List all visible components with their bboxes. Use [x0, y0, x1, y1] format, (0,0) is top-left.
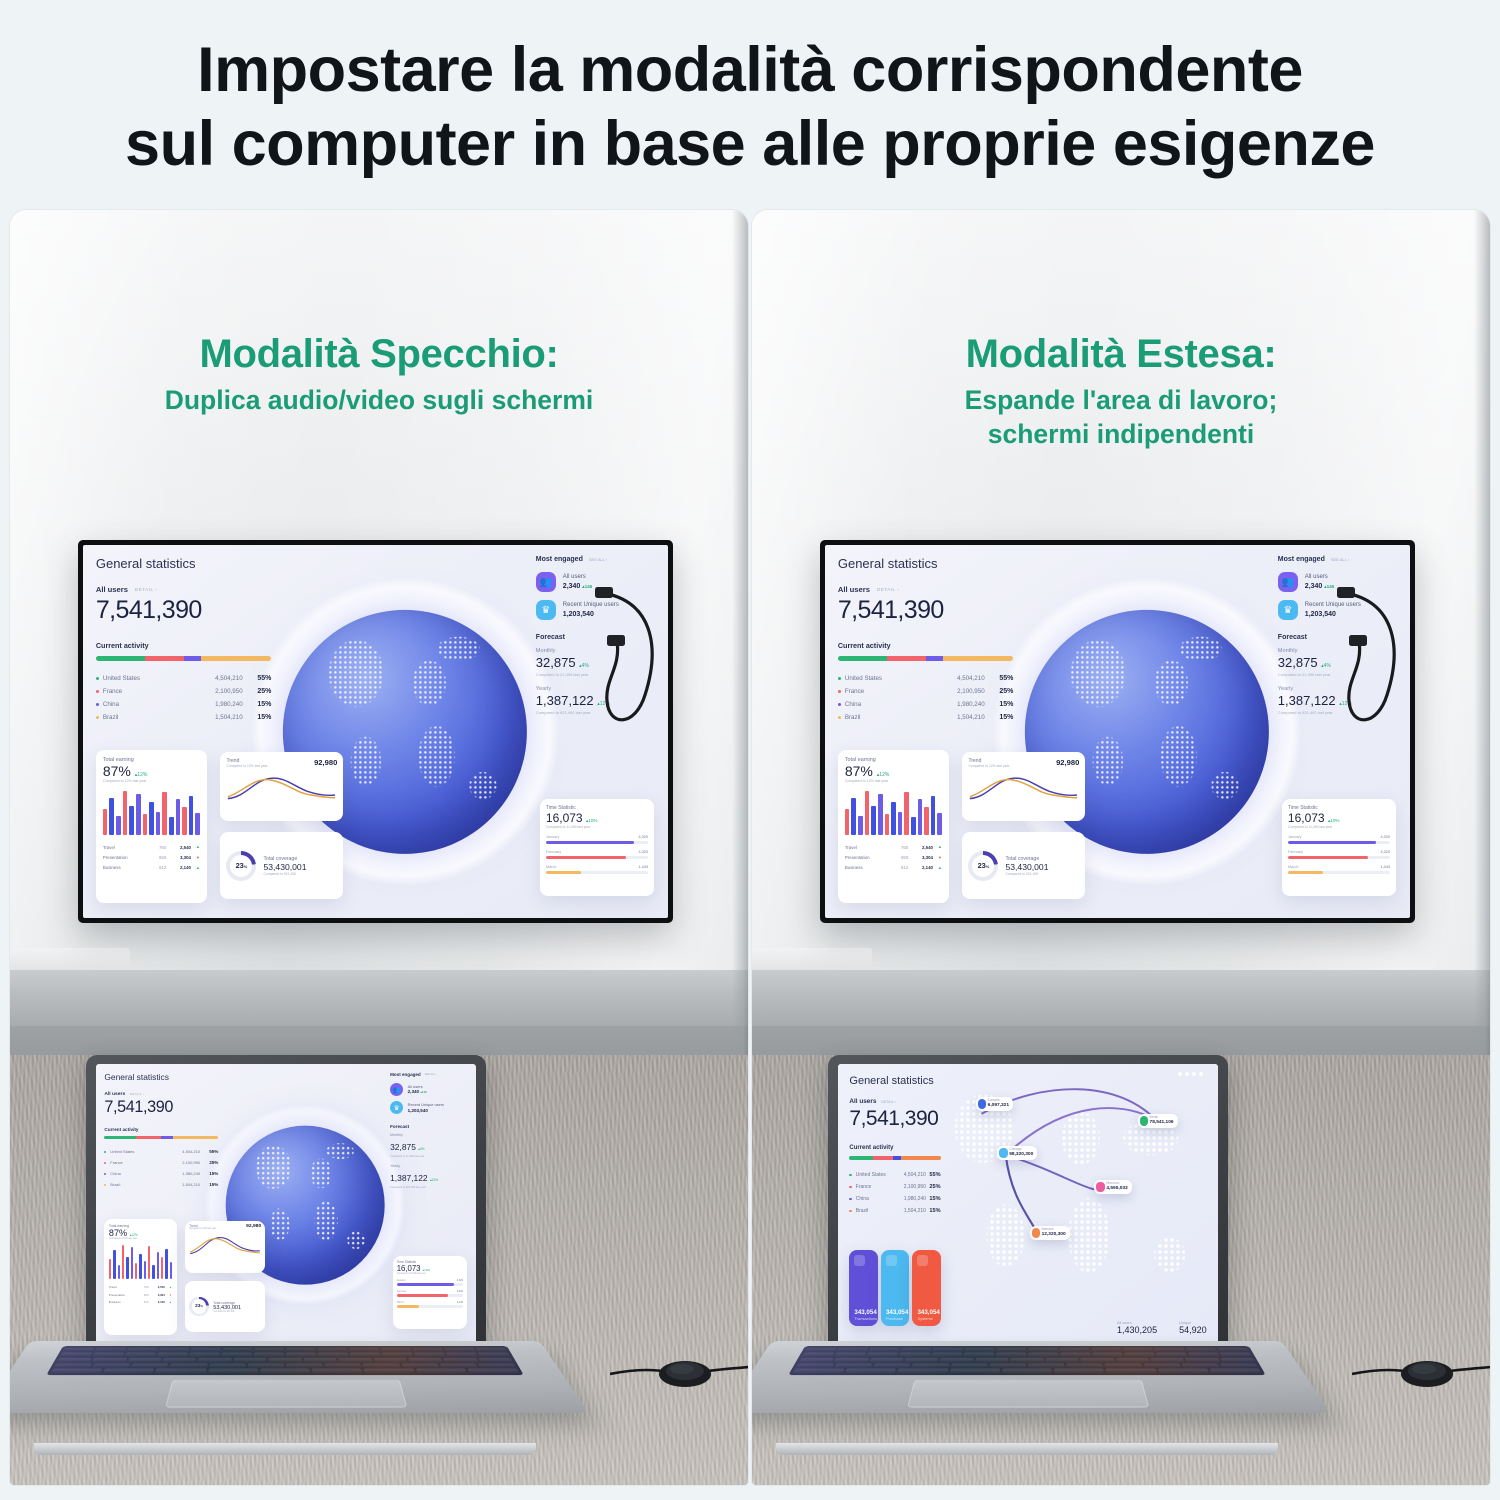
keyboard-key[interactable] [1156, 1353, 1188, 1357]
detail-link[interactable]: DETAIL › [130, 1092, 145, 1096]
trend-value: 92,980 [314, 758, 337, 767]
table-row: Presentation6503,304▾ [103, 853, 200, 863]
keyboard-key[interactable] [364, 1369, 415, 1373]
keyboard-key[interactable] [198, 1358, 232, 1362]
map-pin[interactable]: Morocco4,595,033 [1094, 1180, 1131, 1194]
earning-name: Presentation [845, 853, 892, 863]
keyboard-key[interactable] [127, 1358, 161, 1362]
keyboard-key[interactable] [209, 1363, 246, 1367]
detail-link[interactable]: DETAIL › [881, 1100, 895, 1104]
see-all-link[interactable]: SEE ALL › [425, 1073, 437, 1076]
country-name: France [96, 685, 186, 698]
keyboard-key[interactable] [1218, 1348, 1250, 1352]
map-pin-value: 12,320,300 [1042, 1232, 1066, 1238]
month-label: January [1288, 835, 1302, 839]
keyboard-key[interactable] [268, 1358, 301, 1362]
keyboard-key[interactable] [373, 1358, 407, 1362]
keyboard-key[interactable] [318, 1348, 348, 1352]
earning-b: 2,140 [909, 863, 934, 873]
keyboard-key[interactable] [1115, 1358, 1149, 1362]
earning-a: 612 [150, 863, 168, 873]
dashboard-map-laptop-right: General statisticsAll usersDETAIL ›7,541… [838, 1064, 1218, 1346]
earning-a: 650 [138, 1291, 150, 1298]
keyboard-key[interactable] [338, 1358, 372, 1362]
activity-segment [145, 656, 184, 661]
stat-card[interactable]: 343,054Purchase [881, 1250, 909, 1326]
keyboard-key[interactable] [286, 1353, 316, 1357]
monthly-value: 32,875 ▴4% [1278, 655, 1331, 670]
keyboard-key[interactable] [312, 1369, 363, 1373]
keyboard-key[interactable] [303, 1358, 336, 1362]
country-value: 2,100,950 [186, 685, 242, 698]
keyboard-key[interactable] [126, 1348, 157, 1352]
keyboard-key[interactable] [349, 1348, 380, 1352]
all-users-value: 7,541,390 [104, 1098, 218, 1117]
keyboard-key[interactable] [1220, 1363, 1259, 1367]
keyboard-key[interactable] [103, 1369, 155, 1373]
keyboard-key[interactable] [837, 1348, 868, 1352]
keyboard-key[interactable] [247, 1363, 284, 1367]
keyboard-key[interactable] [1060, 1348, 1090, 1352]
activity-segment [943, 656, 1013, 661]
country-name: China [96, 698, 186, 711]
keyboard-key[interactable] [221, 1353, 252, 1357]
yearly-note: Compared to 921,490 last year [390, 1186, 470, 1189]
keyboard-key[interactable] [363, 1363, 400, 1367]
stat-card[interactable]: 343,054Systems [912, 1250, 940, 1326]
country-pct: 55% [985, 672, 1014, 685]
keyboard-key[interactable] [799, 1358, 834, 1362]
engaged-value: 2,340 ▴145 [1305, 582, 1334, 591]
trend-value: 92,980 [1056, 758, 1079, 767]
forecast-label: Forecast [536, 634, 659, 641]
map-pin-value: 78,541,106 [1150, 1120, 1174, 1126]
keyboard-key[interactable] [155, 1369, 206, 1373]
engaged-value: 2,340 ▴145 [563, 582, 592, 591]
time-statistic-note: Compared to 11,490 last year [546, 825, 648, 829]
current-activity-label: Current activity [104, 1127, 218, 1132]
stat-card-label: Systems [917, 1316, 935, 1321]
country-name: Brazil [104, 1179, 164, 1190]
most-engaged-label: Most engaged [536, 556, 583, 563]
country-value: 2,100,950 [897, 1181, 926, 1193]
keyboard-key[interactable] [222, 1348, 252, 1352]
keyboard-key[interactable] [444, 1348, 475, 1352]
keyboard-key[interactable] [414, 1353, 446, 1357]
month-value: 4,320 [457, 1279, 463, 1282]
keyboard-key[interactable] [792, 1369, 844, 1373]
keyboard-key[interactable] [92, 1358, 127, 1362]
keyboard-key[interactable] [1080, 1358, 1114, 1362]
forecast-label: Forecast [1278, 634, 1401, 641]
keyboard-key[interactable] [408, 1358, 442, 1362]
engaged-item[interactable]: 👥All users2,340 ▴145 [1278, 572, 1401, 592]
keyboard-key[interactable] [795, 1363, 834, 1367]
keyboard-key[interactable] [95, 1348, 126, 1352]
dashboard-globe-tv-right: General statisticsAll usersDETAIL ›7,541… [825, 545, 1410, 918]
activity-segment [173, 1136, 219, 1139]
keyboard-key[interactable] [1188, 1353, 1220, 1357]
yearly-value: 1,387,122 ▴12% [390, 1173, 438, 1183]
mini-bar [865, 791, 870, 836]
keyboard-key[interactable] [189, 1353, 220, 1357]
keyboard-key[interactable] [1181, 1363, 1219, 1367]
map-pin[interactable]: Manaus12,320,300 [1030, 1226, 1070, 1240]
keyboard-key[interactable] [897, 1369, 948, 1373]
keyboard-row [60, 1353, 511, 1357]
keyboard-key[interactable] [1185, 1358, 1220, 1362]
keyboard-key[interactable] [845, 1369, 897, 1373]
coverage-value: 53,430,001 [263, 862, 306, 872]
forecast-monthly: Monthly32,875 ▴4%Compared to 21,490 last… [390, 1133, 470, 1158]
engaged-value: 2,340 ▴145 [408, 1089, 427, 1095]
table-row: Business6122,140▴ [845, 863, 942, 873]
time-statistic-row: January4,320 [397, 1279, 463, 1286]
keyboard-key[interactable] [478, 1363, 517, 1367]
earning-name: Business [109, 1298, 138, 1305]
earning-name: Presentation [103, 853, 150, 863]
mini-bar [113, 1250, 115, 1279]
country-pct: 15% [926, 1193, 941, 1205]
coverage-pct-unit: % [986, 864, 990, 869]
month-label: March [546, 865, 557, 869]
keyboard-key[interactable] [996, 1353, 1026, 1357]
keyboard-key[interactable] [63, 1348, 95, 1352]
month-bar-track [546, 871, 648, 874]
earning-name: Business [845, 863, 892, 873]
see-all-link[interactable]: SEE ALL › [589, 557, 607, 562]
engaged-name: Recent Unique users [563, 601, 619, 609]
keyboard-key[interactable] [124, 1353, 156, 1357]
laptop-keyboard[interactable] [788, 1346, 1266, 1375]
mini-bar [148, 1246, 150, 1279]
country-name: France [849, 1181, 897, 1193]
country-table: United States4,504,21055%France2,100,950… [849, 1169, 940, 1217]
coverage-value: 53,430,001 [1005, 862, 1048, 872]
keyboard-key[interactable] [975, 1358, 1008, 1362]
keyboard-key[interactable] [318, 1353, 349, 1357]
keyboard-key[interactable] [1092, 1353, 1123, 1357]
keyboard-key[interactable] [207, 1369, 258, 1373]
keyboard-key[interactable] [1045, 1358, 1078, 1362]
keyboard-key[interactable] [1106, 1369, 1157, 1373]
keyboard-key[interactable] [350, 1353, 381, 1357]
mini-bar [165, 1249, 167, 1279]
activity-bar [96, 656, 272, 661]
dashboard-globe-laptop-left: General statisticsAll usersDETAIL ›7,541… [96, 1064, 476, 1346]
country-pct: 55% [243, 672, 272, 685]
time-statistic-row: January4,320 [546, 835, 648, 844]
keyboard-key[interactable] [1143, 1363, 1181, 1367]
stat-card-value: 343,054 [854, 1309, 872, 1316]
keyboard-key[interactable] [439, 1363, 477, 1367]
all-users-label: All users [838, 585, 870, 594]
keyboard-key[interactable] [286, 1348, 316, 1352]
keyboard-key[interactable] [286, 1363, 323, 1367]
keyboard-key[interactable] [904, 1358, 938, 1362]
laptop-computer: General statisticsAll usersDETAIL ›7,541… [772, 1055, 1282, 1485]
keyboard-key[interactable] [446, 1353, 478, 1357]
keyboard-key[interactable] [899, 1353, 930, 1357]
mini-bar [170, 1262, 172, 1279]
time-statistic-row: February4,320 [546, 850, 648, 859]
monthly-label: Monthly [390, 1133, 470, 1137]
keyboard-key[interactable] [60, 1353, 92, 1357]
keyboard-key[interactable] [964, 1348, 994, 1352]
country-value: 2,100,950 [928, 685, 984, 698]
keyboard-row [805, 1348, 1250, 1352]
keyboard-key[interactable] [157, 1353, 188, 1357]
trend-note: Compared to 12% last year [189, 1228, 216, 1230]
keyboard-key[interactable] [996, 1348, 1026, 1352]
mini-bar [885, 814, 890, 835]
engaged-item[interactable]: ♛Recent Unique users1,203,540 [1278, 600, 1401, 620]
mini-bar [871, 806, 876, 835]
keyboard-key[interactable] [1124, 1353, 1155, 1357]
stat-card[interactable]: 343,054Transactions [849, 1250, 877, 1326]
keyboard-key[interactable] [1158, 1369, 1210, 1373]
trend-note: Compared to 12% last year [968, 764, 1009, 768]
keyboard-key[interactable] [158, 1348, 189, 1352]
month-value: 1,443 [457, 1301, 463, 1304]
keyboard-key[interactable] [162, 1358, 196, 1362]
month-bar-track [397, 1294, 463, 1297]
keyboard-key[interactable] [1028, 1363, 1065, 1367]
map-footer-totals: All users1,430,205Unique54,920 [1117, 1321, 1207, 1335]
total-coverage-card: 23%Total coverage53,430,001Compared to 9… [962, 832, 1085, 899]
keyboard-key[interactable] [233, 1358, 266, 1362]
keyboard-key[interactable] [932, 1348, 963, 1352]
keyboard-key[interactable] [834, 1363, 872, 1367]
keyboard-key[interactable] [50, 1369, 102, 1373]
month-bar-track [397, 1283, 463, 1286]
table-row: United States4,504,21055% [838, 672, 1014, 685]
dashboard-title: General statistics [104, 1072, 218, 1082]
keyboard-key[interactable] [260, 1369, 310, 1373]
month-value: 4,320 [1380, 850, 1390, 854]
mini-bar [118, 1265, 120, 1279]
earning-a: 650 [150, 853, 168, 863]
time-statistic-value: 16,073 ▴10% [1288, 811, 1390, 825]
map-pin[interactable]: Chicago98,320,300 [997, 1146, 1037, 1160]
keyboard-key[interactable] [963, 1353, 994, 1357]
mini-bar [851, 798, 856, 836]
earning-b: 2,540 [167, 842, 192, 852]
map-pin-value: 4,595,033 [1106, 1186, 1127, 1192]
keyboard-key[interactable] [381, 1348, 412, 1352]
country-name: Brazil [96, 711, 186, 724]
keyboard-key[interactable] [382, 1353, 413, 1357]
keyboard-key[interactable] [1010, 1358, 1043, 1362]
keyboard-key[interactable] [873, 1363, 911, 1367]
keyboard-key[interactable] [1054, 1369, 1105, 1373]
keyboard-key[interactable] [1123, 1348, 1154, 1352]
keyboard-key[interactable] [190, 1348, 221, 1352]
keyboard-key[interactable] [869, 1358, 903, 1362]
keyboard-key[interactable] [170, 1363, 207, 1367]
see-all-link[interactable]: SEE ALL › [1331, 557, 1349, 562]
mini-bar [135, 1263, 137, 1279]
laptop-trackpad[interactable] [165, 1380, 407, 1408]
keyboard-key[interactable] [866, 1353, 898, 1357]
earning-trend-icon: ▾ [192, 853, 200, 863]
keyboard-key[interactable] [1150, 1358, 1184, 1362]
keyboard-key[interactable] [324, 1363, 361, 1367]
total-earning-note: Compared to 12% last year [109, 1238, 172, 1240]
keyboard-key[interactable] [478, 1353, 510, 1357]
table-row: Travel7602,540▴ [845, 842, 942, 852]
month-bar-fill [1288, 871, 1323, 874]
keyboard-key[interactable] [401, 1363, 439, 1367]
keyboard-key[interactable] [931, 1353, 962, 1357]
keyboard-key[interactable] [834, 1353, 866, 1357]
keyboard-row [53, 1363, 516, 1367]
keyboard-row [799, 1358, 1256, 1362]
keyboard-key[interactable] [802, 1353, 834, 1357]
keyboard-key[interactable] [951, 1363, 988, 1367]
month-label: January [397, 1279, 406, 1282]
keyboard-key[interactable] [868, 1348, 899, 1352]
month-bar-track [546, 841, 648, 844]
keyboard-key[interactable] [940, 1358, 974, 1362]
country-pct: 25% [200, 1157, 218, 1168]
month-bar-track [546, 856, 648, 859]
country-value: 1,504,210 [928, 711, 984, 724]
total-earning-value: 87% ▴12% [845, 763, 942, 779]
keyboard-key[interactable] [53, 1363, 92, 1367]
country-value: 2,100,950 [164, 1157, 200, 1168]
time-statistic-delta: ▴10% [1328, 818, 1340, 823]
mini-bar [126, 1257, 128, 1279]
earning-b: 3,304 [167, 853, 192, 863]
keyboard-key[interactable] [476, 1348, 508, 1352]
keyboard-key[interactable] [900, 1348, 931, 1352]
country-pct: 15% [926, 1205, 941, 1217]
earning-a: 650 [892, 853, 910, 863]
keyboard-key[interactable] [92, 1363, 130, 1367]
country-table: United States4,504,21055%France2,100,950… [838, 672, 1014, 724]
map-pin[interactable]: Berlin78,541,106 [1138, 1114, 1178, 1128]
country-pct: 15% [243, 711, 272, 724]
keyboard-key[interactable] [416, 1369, 468, 1373]
total-earning-card: Total earning87% ▴12%Compared to 12% las… [838, 750, 949, 903]
country-name: United States [849, 1169, 897, 1181]
television-display: General statisticsAll usersDETAIL ›7,541… [78, 540, 673, 923]
keyboard-key[interactable] [1220, 1358, 1255, 1362]
keyboard-key[interactable] [131, 1363, 169, 1367]
detail-link[interactable]: DETAIL › [877, 587, 899, 592]
earning-b: 2,540 [150, 1284, 166, 1291]
yearly-note: Compared to 921,490 last year [1278, 710, 1401, 715]
country-name: China [104, 1168, 164, 1179]
keyboard-key[interactable] [254, 1353, 284, 1357]
coverage-note: Compared to 921,490 [213, 1311, 241, 1313]
keyboard-key[interactable] [1220, 1353, 1252, 1357]
detail-link[interactable]: DETAIL › [135, 587, 157, 592]
mini-bar [144, 1261, 146, 1279]
mini-bar [129, 806, 134, 835]
keyboard-key[interactable] [92, 1353, 124, 1357]
keyboard-key[interactable] [1186, 1348, 1217, 1352]
stats-right-column: Most engagedSEE ALL ›👥All users2,340 ▴14… [390, 1072, 470, 1188]
month-label: February [397, 1290, 407, 1293]
keyboard-key[interactable] [1105, 1363, 1142, 1367]
mirror-mode-subtitle-1: Duplica audio/video sugli schermi [10, 384, 748, 418]
keyboard-key[interactable] [468, 1369, 520, 1373]
activity-segment [887, 656, 926, 661]
table-row: Travel7602,540▴ [109, 1284, 172, 1291]
keyboard-key[interactable] [1002, 1369, 1052, 1373]
keyboard-key[interactable] [989, 1363, 1026, 1367]
engaged-item[interactable]: ♛Recent Unique users1,203,540 [390, 1101, 470, 1114]
month-bar-fill [397, 1305, 420, 1308]
country-value: 1,980,240 [897, 1193, 926, 1205]
month-value: 4,320 [638, 835, 648, 839]
forecast-yearly: Yearly1,387,122 ▴12%Compared to 921,490 … [536, 686, 659, 715]
keyboard-key[interactable] [1210, 1369, 1262, 1373]
keyboard-key[interactable] [443, 1358, 478, 1362]
keyboard-key[interactable] [1154, 1348, 1185, 1352]
engaged-item[interactable]: ♛Recent Unique users1,203,540 [536, 600, 659, 620]
keyboard-key[interactable] [1066, 1363, 1103, 1367]
keyboard-key[interactable] [1028, 1348, 1058, 1352]
mini-bar [123, 791, 128, 836]
keyboard-key[interactable] [912, 1363, 949, 1367]
mini-bar [116, 816, 121, 835]
keyboard-row [63, 1348, 508, 1352]
keyboard-key[interactable] [1028, 1353, 1058, 1357]
table-row: Brazil1,504,21015% [838, 711, 1014, 724]
engaged-item[interactable]: 👥All users2,340 ▴145 [536, 572, 659, 592]
earning-name: Travel [845, 842, 892, 852]
map-dashboard: General statisticsAll usersDETAIL ›7,541… [838, 1064, 1218, 1346]
keyboard-key[interactable] [254, 1348, 284, 1352]
keyboard-key[interactable] [834, 1358, 869, 1362]
month-value: 1,443 [638, 865, 648, 869]
mini-bar [149, 802, 154, 835]
trend-card: TrendCompared to 12% last year92,980 [185, 1221, 265, 1273]
keyboard-key[interactable] [949, 1369, 1000, 1373]
month-bar-track [397, 1305, 463, 1308]
keyboard-key[interactable] [478, 1358, 513, 1362]
keyboard-key[interactable] [1091, 1348, 1122, 1352]
forecast-yearly: Yearly1,387,122 ▴12%Compared to 921,490 … [1278, 686, 1401, 715]
table-row: Brazil1,504,21015% [849, 1205, 940, 1217]
stat-card-label: Transactions [854, 1316, 872, 1321]
total-earning-value: 87% ▴12% [103, 763, 200, 779]
map-pin[interactable]: Canada6,097,321 [976, 1097, 1013, 1111]
engaged-item[interactable]: 👥All users2,340 ▴145 [390, 1083, 470, 1096]
monthly-delta: ▴4% [579, 663, 589, 669]
month-value: 4,320 [1380, 835, 1390, 839]
laptop-computer: General statisticsAll usersDETAIL ›7,541… [30, 1055, 540, 1485]
activity-bar [838, 656, 1014, 661]
earning-b: 3,304 [909, 853, 934, 863]
laptop-keyboard[interactable] [46, 1346, 524, 1375]
mini-bar [143, 814, 148, 835]
keyboard-key[interactable] [805, 1348, 837, 1352]
earning-a: 612 [892, 863, 910, 873]
people-icon: 👥 [536, 572, 556, 592]
laptop-trackpad[interactable] [907, 1380, 1149, 1408]
keyboard-key[interactable] [412, 1348, 443, 1352]
earning-trend-icon: ▴ [934, 863, 942, 873]
keyboard-key[interactable] [1060, 1353, 1091, 1357]
earning-trend-icon: ▴ [166, 1284, 172, 1291]
stats-right-column: Most engagedSEE ALL ›👥All users2,340 ▴14… [536, 556, 659, 715]
keyboard-key[interactable] [57, 1358, 92, 1362]
table-row: France2,100,95025% [849, 1181, 940, 1193]
